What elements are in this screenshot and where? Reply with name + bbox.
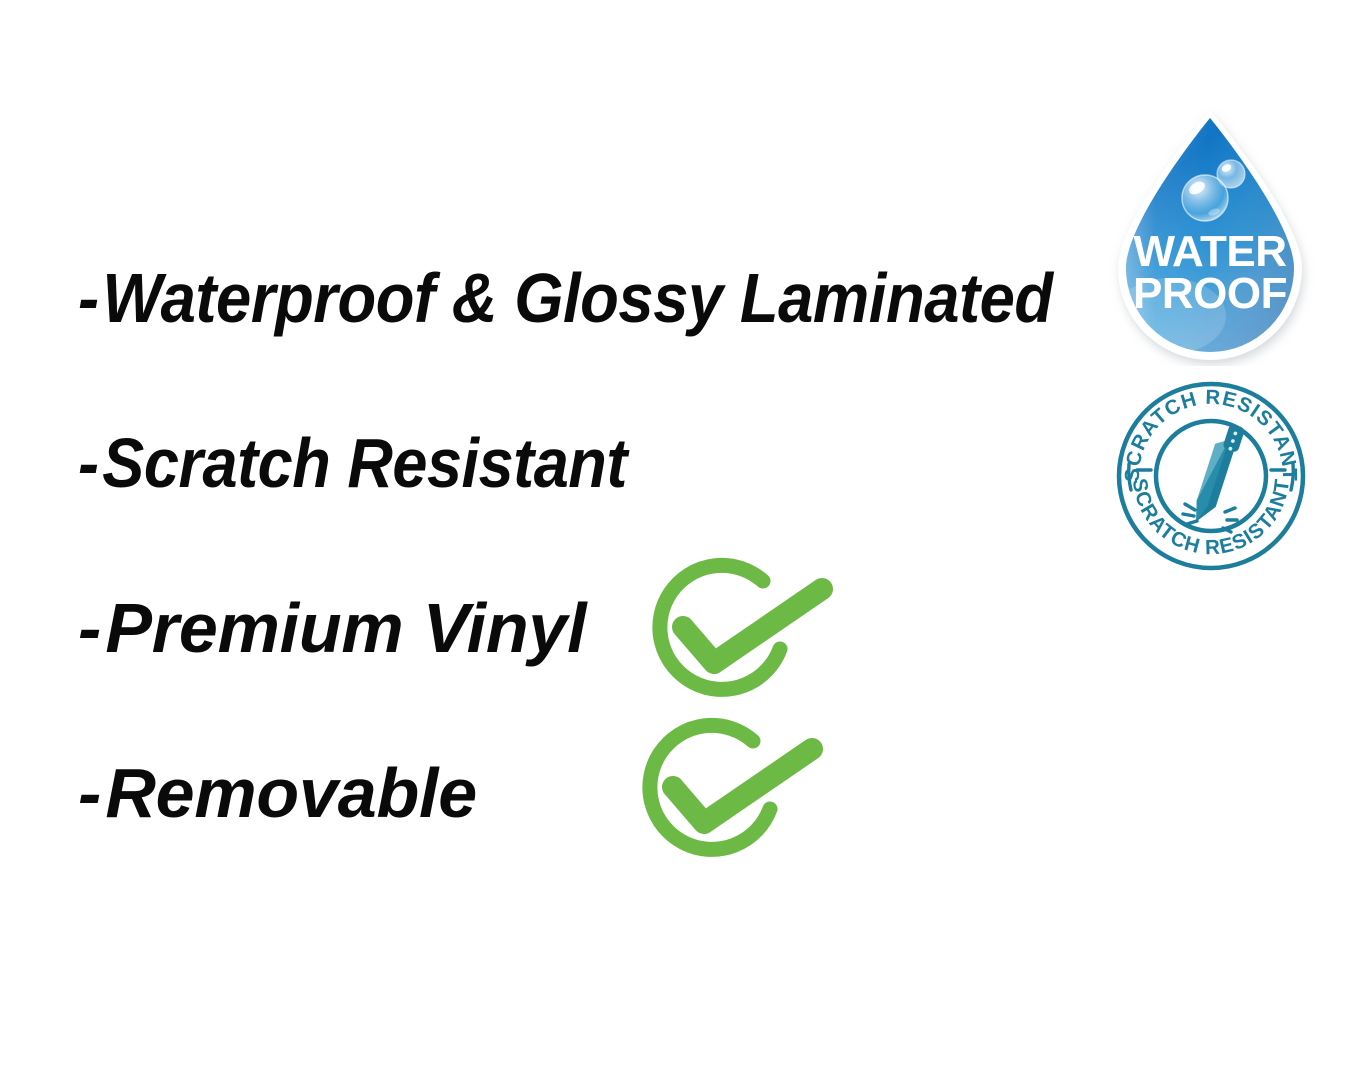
scratch-resistant-badge: SCRATCH RESISTANT SCRATCH RESISTANT bbox=[1113, 378, 1309, 574]
feature-label: Scratch Resistant bbox=[102, 428, 627, 498]
feature-label: Waterproof & Glossy Laminated bbox=[102, 263, 1052, 333]
water-bubble-large bbox=[1182, 175, 1228, 221]
check-mark-premium-vinyl bbox=[635, 553, 835, 713]
feature-item-scratch-resistant: -Scratch Resistant bbox=[78, 428, 627, 498]
feature-item-removable: -Removable bbox=[78, 758, 477, 828]
feature-bullet-dash: - bbox=[78, 593, 101, 663]
feature-bullet-dash: - bbox=[78, 758, 101, 828]
waterproof-badge: WATER PROOF bbox=[1098, 104, 1322, 366]
feature-bullet-dash: - bbox=[78, 428, 99, 498]
knife-icon bbox=[1190, 421, 1245, 527]
feature-item-waterproof-glossy-laminated: -Waterproof & Glossy Laminated bbox=[78, 263, 1053, 333]
check-mark-removable bbox=[625, 713, 825, 873]
check-stroke bbox=[683, 589, 822, 663]
waterproof-line-2: PROOF bbox=[1133, 269, 1287, 318]
product-feature-callout-card: -Waterproof & Glossy Laminated -Scratch … bbox=[0, 0, 1359, 1080]
feature-item-premium-vinyl: -Premium Vinyl bbox=[78, 593, 586, 663]
feature-bullet-dash: - bbox=[78, 263, 99, 333]
feature-label: Premium Vinyl bbox=[105, 593, 586, 663]
feature-label: Removable bbox=[105, 758, 477, 828]
check-stroke bbox=[673, 749, 812, 823]
